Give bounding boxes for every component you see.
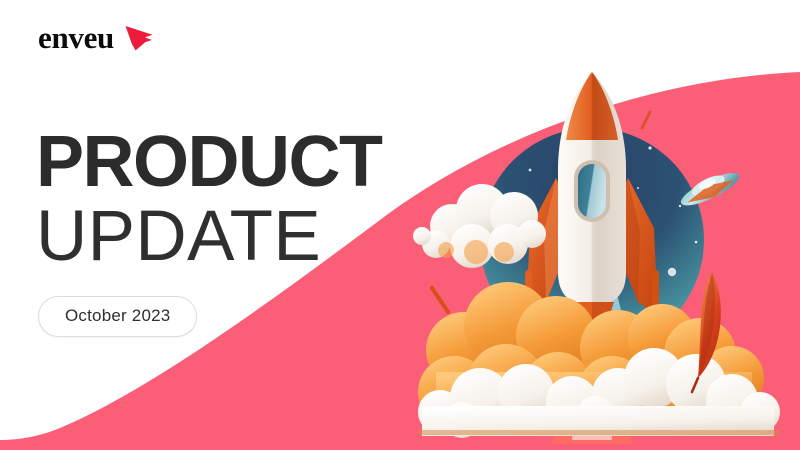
ground-shadow [418, 430, 780, 435]
logo[interactable]: enveu [38, 22, 154, 53]
play-arrow-icon [123, 24, 154, 52]
rocket-nozzle [570, 302, 614, 326]
page-title: PRODUCT UPDATE [36, 128, 382, 274]
rocket-fins [525, 178, 659, 322]
rocket-icon [558, 72, 626, 326]
ember-spark-icon [432, 288, 448, 312]
ember-spark-icon-2 [642, 112, 650, 128]
exhaust-glow [536, 282, 648, 420]
feather-icon [692, 272, 721, 392]
side-smoke-puff [413, 184, 546, 268]
date-badge: October 2023 [38, 296, 197, 337]
ufo-saucer-icon [676, 165, 742, 211]
rocket-porthole-window [578, 164, 606, 218]
rocket-launch-illustration [380, 20, 800, 450]
rocket-nose-cone [566, 72, 618, 140]
headline-line-primary: PRODUCT [36, 128, 382, 197]
smoke-cloud-icon [418, 348, 780, 438]
porthole-ring [574, 160, 610, 222]
product-update-banner: enveu PRODUCT UPDATE October 2023 [0, 0, 800, 450]
space-circle-icon [480, 127, 704, 352]
rocket-center-fin [576, 216, 608, 306]
logo-wordmark: enveu [38, 22, 114, 53]
exhaust-flame-icon [552, 320, 632, 444]
headline-line-secondary: UPDATE [36, 201, 382, 273]
smoke-cloud-warm [418, 282, 764, 428]
